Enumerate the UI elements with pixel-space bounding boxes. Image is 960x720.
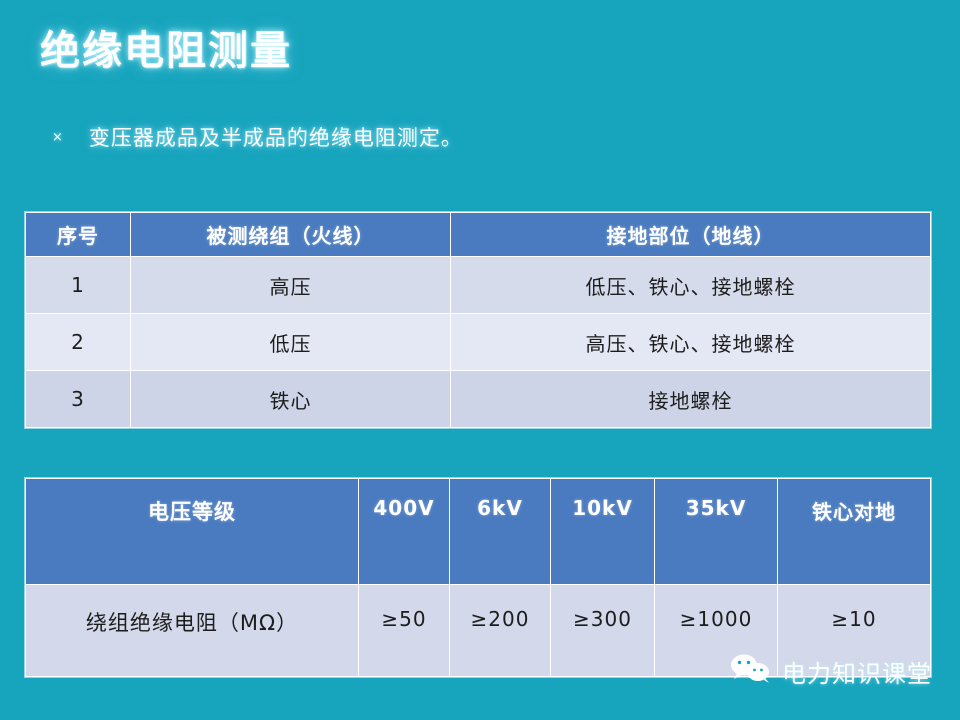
cell-value-6kv: ≥200 bbox=[450, 585, 551, 677]
bullet-line: × 变压器成品及半成品的绝缘电阻测定。 bbox=[52, 122, 463, 152]
cell-ground: 接地螺栓 bbox=[451, 371, 931, 428]
column-header-winding: 被测绕组（火线） bbox=[131, 213, 451, 257]
column-header-400v: 400V bbox=[359, 479, 450, 585]
column-header-6kv: 6kV bbox=[450, 479, 551, 585]
cross-bullet-icon: × bbox=[52, 131, 63, 144]
cell-ground: 高压、铁心、接地螺栓 bbox=[451, 314, 931, 371]
windings-table: 序号 被测绕组（火线） 接地部位（地线） 1 高压 低压、铁心、接地螺栓 2 低… bbox=[25, 212, 931, 428]
cell-resistance-label: 绕组绝缘电阻（MΩ） bbox=[26, 585, 359, 677]
cell-value-400v: ≥50 bbox=[359, 585, 450, 677]
cell-index: 2 bbox=[26, 314, 131, 371]
column-header-voltage-class: 电压等级 bbox=[26, 479, 359, 585]
table-row: 1 高压 低压、铁心、接地螺栓 bbox=[26, 257, 931, 314]
cell-value-35kv: ≥1000 bbox=[655, 585, 778, 677]
table-header-row: 序号 被测绕组（火线） 接地部位（地线） bbox=[26, 213, 931, 257]
column-header-index: 序号 bbox=[26, 213, 131, 257]
bullet-text: 变压器成品及半成品的绝缘电阻测定。 bbox=[89, 122, 463, 152]
cell-index: 1 bbox=[26, 257, 131, 314]
cell-winding: 铁心 bbox=[131, 371, 451, 428]
cell-winding: 高压 bbox=[131, 257, 451, 314]
table-header-row: 电压等级 400V 6kV 10kV 35kV 铁心对地 bbox=[26, 479, 931, 585]
column-header-core-to-ground: 铁心对地 bbox=[778, 479, 931, 585]
cell-winding: 低压 bbox=[131, 314, 451, 371]
column-header-35kv: 35kV bbox=[655, 479, 778, 585]
column-header-ground: 接地部位（地线） bbox=[451, 213, 931, 257]
cell-value-10kv: ≥300 bbox=[551, 585, 655, 677]
column-header-10kv: 10kV bbox=[551, 479, 655, 585]
cell-index: 3 bbox=[26, 371, 131, 428]
voltage-resistance-table: 电压等级 400V 6kV 10kV 35kV 铁心对地 绕组绝缘电阻（MΩ） … bbox=[25, 478, 931, 677]
table-row: 绕组绝缘电阻（MΩ） ≥50 ≥200 ≥300 ≥1000 ≥10 bbox=[26, 585, 931, 677]
table-row: 2 低压 高压、铁心、接地螺栓 bbox=[26, 314, 931, 371]
cell-value-core-to-ground: ≥10 bbox=[778, 585, 931, 677]
page-title: 绝缘电阻测量 bbox=[40, 18, 292, 76]
table-row: 3 铁心 接地螺栓 bbox=[26, 371, 931, 428]
cell-ground: 低压、铁心、接地螺栓 bbox=[451, 257, 931, 314]
